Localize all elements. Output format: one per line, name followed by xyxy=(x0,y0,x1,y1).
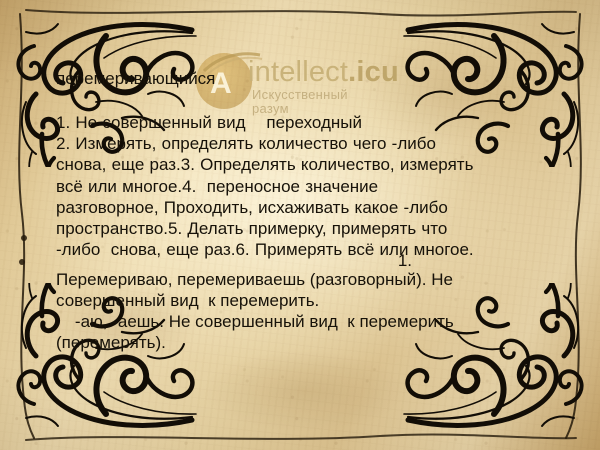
parchment-page: A intellect.icu Искусственный разум пере… xyxy=(0,0,600,450)
ending-block: -аю, -аешь. Не совершенный вид к перемер… xyxy=(56,311,536,353)
conjugation-block: Перемериваю, перемериваешь (разговорный)… xyxy=(56,269,526,311)
headword: перемеривающийся xyxy=(56,68,215,89)
definitions-block: 1. Не совершенный вид переходный 2. Изме… xyxy=(56,112,526,260)
document-text: перемеривающийся 1. Не совершенный вид п… xyxy=(0,0,600,450)
sense-number: 1. xyxy=(56,250,412,271)
